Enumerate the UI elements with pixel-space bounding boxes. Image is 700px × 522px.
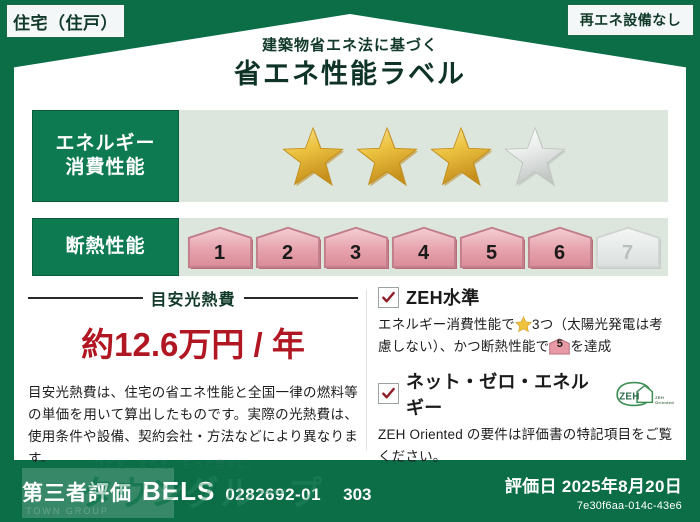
house-level-filled: 6: [527, 225, 593, 269]
zeh-section: ZEH水準 エネルギー消費性能で3つ（太陽光発電は考慮しない）、かつ断熱性能で5…: [378, 284, 674, 456]
star-group: [280, 125, 568, 188]
watermark-english: TOWN GROUP: [26, 506, 109, 516]
rule-right: [244, 297, 359, 299]
net-zero-body: ZEH Oriented の要件は評価書の特記項目をご覧ください。: [378, 424, 674, 468]
star-filled-icon: [354, 125, 420, 188]
zeh-sub-line2: Oriented: [655, 400, 674, 405]
energy-label-line1: エネルギー: [55, 132, 155, 156]
inline-star-icon: [515, 316, 532, 332]
inline-house-level: 5: [549, 338, 570, 355]
section-divider: [366, 290, 367, 450]
zeh-standard-title: ZEH水準: [406, 284, 480, 310]
evaluation-date-value: 2025年8月20日: [562, 477, 682, 496]
utility-cost-heading-row: 目安光熱費: [28, 286, 358, 310]
zeh-standard-block: ZEH水準 エネルギー消費性能で3つ（太陽光発電は考慮しない）、かつ断熱性能で5…: [378, 284, 674, 358]
zeh-logo-icon: ZEH ZEH Oriented: [614, 381, 674, 407]
third-party-label: 第三者評価: [22, 477, 132, 507]
zeh-body-text-3: を達成: [570, 339, 611, 354]
house-level-number: 5: [486, 242, 497, 269]
zeh-standard-title-row: ZEH水準: [378, 284, 674, 310]
rule-left: [28, 297, 143, 299]
zeh-logo-sublabel: ZEH Oriented: [655, 396, 674, 406]
certificate-serial: 303: [343, 485, 371, 505]
energy-performance-label: 住宅（住戸） 再エネ設備なし 建築物省エネ法に基づく 省エネ性能ラベル エネルギ…: [0, 0, 700, 522]
svg-text:ZEH: ZEH: [619, 391, 640, 402]
house-level-number: 1: [214, 242, 225, 269]
insulation-label-line1: 断熱性能: [65, 235, 145, 259]
utility-cost-note: 目安光熱費は、住宅の省エネ性能と全国一律の燃料等の単価を用いて算出したものです。…: [28, 382, 358, 469]
certificate-number: 0282692-01: [225, 485, 321, 505]
checkbox-checked-icon: [378, 287, 399, 308]
renewable-equipment-tag: 再エネ設備なし: [567, 4, 694, 36]
house-level-filled: 3: [323, 225, 389, 269]
net-zero-energy-block: ネット・ゼロ・エネルギー ZEH ZEH Oriented ZEH Orient…: [378, 368, 674, 468]
house-level-number: 4: [418, 242, 429, 269]
evaluation-date-label: 評価日: [505, 477, 557, 496]
utility-cost-heading: 目安光熱費: [151, 286, 236, 310]
house-level-number: 2: [282, 242, 293, 269]
utility-cost-section: 目安光熱費 約12.6万円 / 年 目安光熱費は、住宅の省エネ性能と全国一律の燃…: [28, 286, 358, 456]
checkbox-checked-icon: [378, 383, 399, 404]
inline-house-icon: 5: [549, 338, 570, 355]
evaluation-id: 7e30f6aa-014c-43e6: [505, 500, 682, 512]
utility-cost-amount: 約12.6万円 / 年: [28, 318, 358, 366]
net-zero-title-row: ネット・ゼロ・エネルギー ZEH ZEH Oriented: [378, 368, 674, 420]
energy-performance-label: エネルギー 消費性能: [32, 110, 179, 202]
evaluation-date: 評価日 2025年8月20日: [505, 472, 682, 497]
house-level-number: 3: [350, 242, 361, 269]
housing-type-tag: 住宅（住戸）: [6, 4, 125, 38]
footer-bar: 第三者評価 BELS 0282692-01 303 評価日 2025年8月20日…: [0, 462, 700, 522]
star-filled-icon: [280, 125, 346, 188]
insulation-performance-label: 断熱性能: [32, 218, 179, 276]
zeh-body-text-1: エネルギー消費性能で: [378, 317, 515, 332]
house-level-filled: 5: [459, 225, 525, 269]
house-level-filled: 2: [255, 225, 321, 269]
house-level-filled: 1: [187, 225, 253, 269]
zeh-standard-body: エネルギー消費性能で3つ（太陽光発電は考慮しない）、かつ断熱性能で5を達成: [378, 314, 674, 358]
bels-info: 第三者評価 BELS 0282692-01 303: [22, 476, 371, 507]
energy-performance-row: エネルギー 消費性能: [32, 110, 668, 202]
star-empty-icon: [502, 125, 568, 188]
energy-star-rating: [179, 110, 668, 202]
house-level-number: 6: [554, 242, 565, 269]
house-level-number: 7: [622, 242, 633, 269]
evaluation-info: 評価日 2025年8月20日 7e30f6aa-014c-43e6: [505, 472, 682, 512]
house-group: 1234567: [187, 225, 661, 269]
house-level-empty: 7: [595, 225, 661, 269]
insulation-level-rating: 1234567: [179, 218, 668, 276]
energy-label-line2: 消費性能: [65, 156, 145, 180]
net-zero-title: ネット・ゼロ・エネルギー: [406, 368, 605, 420]
bels-logo-text: BELS: [142, 476, 215, 507]
house-level-filled: 4: [391, 225, 457, 269]
insulation-performance-row: 断熱性能 1234567: [32, 218, 668, 276]
star-filled-icon: [428, 125, 494, 188]
